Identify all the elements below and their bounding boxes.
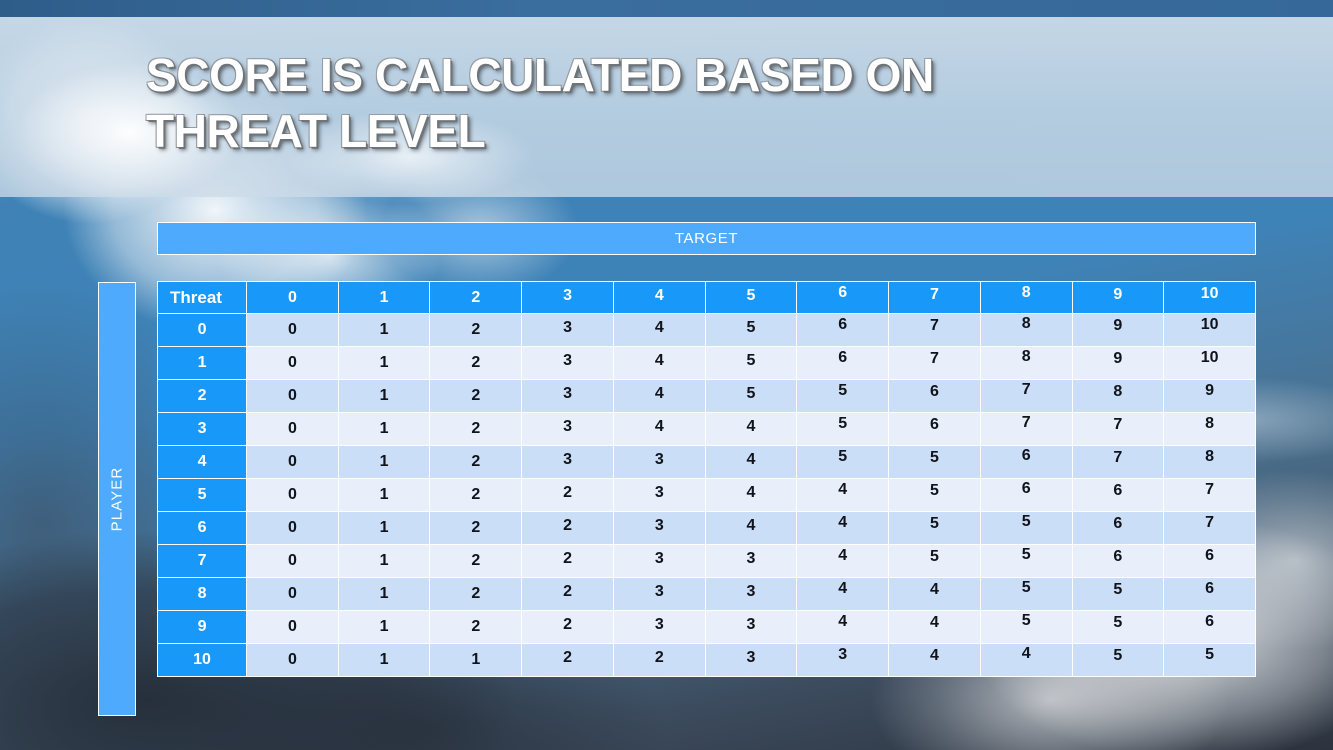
score-cell-p9-t2: 2: [430, 611, 522, 644]
score-cell-p1-t5: 5: [706, 347, 798, 380]
row-header-8: 8: [157, 578, 247, 611]
score-cell-p4-t10: 8: [1164, 446, 1256, 479]
score-cell-p6-t3: 2: [522, 512, 614, 545]
score-cell-p5-t6: 4: [797, 479, 889, 512]
score-cell-p5-t7: 5: [889, 479, 981, 512]
score-cell-p4-t4: 3: [614, 446, 706, 479]
score-cell-p0-t2: 2: [430, 314, 522, 347]
column-header-4: 4: [614, 281, 706, 314]
score-cell-p2-t1: 1: [339, 380, 431, 413]
score-cell-p5-t9: 6: [1073, 479, 1165, 512]
score-cell-p7-t7: 5: [889, 545, 981, 578]
row-header-6: 6: [157, 512, 247, 545]
score-cell-p5-t0: 0: [247, 479, 339, 512]
top-accent-band: [0, 0, 1333, 17]
score-cell-p2-t2: 2: [430, 380, 522, 413]
score-cell-p1-t3: 3: [522, 347, 614, 380]
score-cell-p1-t7: 7: [889, 347, 981, 380]
score-cell-p9-t1: 1: [339, 611, 431, 644]
score-cell-p0-t9: 9: [1073, 314, 1165, 347]
score-cell-p10-t9: 5: [1073, 644, 1165, 677]
score-cell-p7-t3: 2: [522, 545, 614, 578]
score-cell-p4-t1: 1: [339, 446, 431, 479]
score-cell-p9-t3: 2: [522, 611, 614, 644]
player-axis-label: PLAYER: [109, 467, 126, 532]
score-cell-p5-t8: 6: [981, 479, 1073, 512]
score-cell-p6-t4: 3: [614, 512, 706, 545]
score-cell-p3-t3: 3: [522, 413, 614, 446]
score-cell-p9-t0: 0: [247, 611, 339, 644]
score-cell-p1-t8: 8: [981, 347, 1073, 380]
score-cell-p10-t2: 1: [430, 644, 522, 677]
matrix-corner-header: Threat: [157, 281, 247, 314]
table-row: 701223345566: [157, 545, 1256, 578]
score-cell-p5-t5: 4: [706, 479, 798, 512]
table-row: 401233455678: [157, 446, 1256, 479]
score-cell-p7-t6: 4: [797, 545, 889, 578]
score-cell-p0-t5: 5: [706, 314, 798, 347]
score-cell-p1-t0: 0: [247, 347, 339, 380]
score-cell-p3-t2: 2: [430, 413, 522, 446]
score-cell-p8-t8: 5: [981, 578, 1073, 611]
score-cell-p4-t5: 4: [706, 446, 798, 479]
row-header-1: 1: [157, 347, 247, 380]
score-cell-p10-t8: 4: [981, 644, 1073, 677]
score-cell-p2-t10: 9: [1164, 380, 1256, 413]
table-row: 201234556789: [157, 380, 1256, 413]
score-cell-p6-t7: 5: [889, 512, 981, 545]
score-cell-p7-t8: 5: [981, 545, 1073, 578]
score-cell-p6-t9: 6: [1073, 512, 1165, 545]
score-cell-p9-t6: 4: [797, 611, 889, 644]
score-cell-p6-t0: 0: [247, 512, 339, 545]
score-cell-p5-t10: 7: [1164, 479, 1256, 512]
score-cell-p0-t7: 7: [889, 314, 981, 347]
column-header-2: 2: [430, 281, 522, 314]
score-cell-p1-t1: 1: [339, 347, 431, 380]
score-cell-p8-t5: 3: [706, 578, 798, 611]
column-header-8: 8: [981, 281, 1073, 314]
score-cell-p0-t10: 10: [1164, 314, 1256, 347]
table-row: 901223344556: [157, 611, 1256, 644]
score-cell-p7-t4: 3: [614, 545, 706, 578]
score-cell-p6-t8: 5: [981, 512, 1073, 545]
score-cell-p4-t2: 2: [430, 446, 522, 479]
score-cell-p7-t5: 3: [706, 545, 798, 578]
slide: SCORE IS CALCULATED BASED ON THREAT LEVE…: [0, 0, 1333, 750]
score-cell-p7-t2: 2: [430, 545, 522, 578]
score-cell-p4-t6: 5: [797, 446, 889, 479]
score-cell-p2-t0: 0: [247, 380, 339, 413]
score-cell-p1-t4: 4: [614, 347, 706, 380]
score-cell-p2-t6: 5: [797, 380, 889, 413]
score-cell-p4-t0: 0: [247, 446, 339, 479]
score-cell-p4-t8: 6: [981, 446, 1073, 479]
score-cell-p6-t2: 2: [430, 512, 522, 545]
score-cell-p7-t10: 6: [1164, 545, 1256, 578]
score-cell-p5-t1: 1: [339, 479, 431, 512]
row-header-9: 9: [157, 611, 247, 644]
score-cell-p9-t4: 3: [614, 611, 706, 644]
score-cell-p9-t5: 3: [706, 611, 798, 644]
score-cell-p5-t2: 2: [430, 479, 522, 512]
row-header-0: 0: [157, 314, 247, 347]
column-header-0: 0: [247, 281, 339, 314]
score-cell-p5-t4: 3: [614, 479, 706, 512]
matrix-header-row: Threat 0 1 2 3 4 5 6 7 8 9 10: [157, 281, 1256, 314]
score-cell-p2-t9: 8: [1073, 380, 1165, 413]
table-row: 1012345678910: [157, 347, 1256, 380]
score-cell-p4-t7: 5: [889, 446, 981, 479]
score-cell-p10-t7: 4: [889, 644, 981, 677]
score-cell-p3-t8: 7: [981, 413, 1073, 446]
score-cell-p2-t4: 4: [614, 380, 706, 413]
score-cell-p2-t3: 3: [522, 380, 614, 413]
row-header-7: 7: [157, 545, 247, 578]
score-cell-p9-t10: 6: [1164, 611, 1256, 644]
column-header-6: 6: [797, 281, 889, 314]
score-cell-p3-t1: 1: [339, 413, 431, 446]
score-cell-p8-t3: 2: [522, 578, 614, 611]
score-cell-p1-t2: 2: [430, 347, 522, 380]
row-header-10: 10: [157, 644, 247, 677]
score-cell-p6-t5: 4: [706, 512, 798, 545]
score-cell-p7-t1: 1: [339, 545, 431, 578]
score-cell-p3-t7: 6: [889, 413, 981, 446]
column-header-9: 9: [1073, 281, 1165, 314]
table-row: 601223445567: [157, 512, 1256, 545]
score-cell-p10-t3: 2: [522, 644, 614, 677]
score-cell-p7-t0: 0: [247, 545, 339, 578]
score-cell-p8-t1: 1: [339, 578, 431, 611]
matrix-body: 0012345678910101234567891020123455678930…: [157, 314, 1256, 677]
score-cell-p0-t0: 0: [247, 314, 339, 347]
column-header-1: 1: [339, 281, 431, 314]
row-header-4: 4: [157, 446, 247, 479]
score-cell-p3-t9: 7: [1073, 413, 1165, 446]
score-cell-p8-t2: 2: [430, 578, 522, 611]
score-cell-p10-t10: 5: [1164, 644, 1256, 677]
score-cell-p9-t7: 4: [889, 611, 981, 644]
score-cell-p3-t0: 0: [247, 413, 339, 446]
row-header-2: 2: [157, 380, 247, 413]
score-cell-p10-t5: 3: [706, 644, 798, 677]
score-cell-p4-t9: 7: [1073, 446, 1165, 479]
page-title: SCORE IS CALCULATED BASED ON THREAT LEVE…: [146, 48, 1146, 159]
score-cell-p8-t9: 5: [1073, 578, 1165, 611]
score-cell-p0-t1: 1: [339, 314, 431, 347]
column-header-7: 7: [889, 281, 981, 314]
row-header-3: 3: [157, 413, 247, 446]
score-cell-p5-t3: 2: [522, 479, 614, 512]
score-cell-p7-t9: 6: [1073, 545, 1165, 578]
score-cell-p3-t5: 4: [706, 413, 798, 446]
score-matrix-table: Threat 0 1 2 3 4 5 6 7 8 9 10 0012345678…: [157, 281, 1256, 677]
column-header-5: 5: [706, 281, 798, 314]
score-cell-p4-t3: 3: [522, 446, 614, 479]
score-cell-p10-t1: 1: [339, 644, 431, 677]
table-row: 301234456778: [157, 413, 1256, 446]
score-cell-p10-t0: 0: [247, 644, 339, 677]
score-cell-p8-t7: 4: [889, 578, 981, 611]
column-header-10: 10: [1164, 281, 1256, 314]
player-axis-banner: PLAYER: [98, 282, 136, 716]
score-cell-p6-t6: 4: [797, 512, 889, 545]
score-cell-p0-t8: 8: [981, 314, 1073, 347]
table-row: 501223445667: [157, 479, 1256, 512]
row-header-5: 5: [157, 479, 247, 512]
score-cell-p1-t10: 10: [1164, 347, 1256, 380]
score-cell-p1-t9: 9: [1073, 347, 1165, 380]
score-cell-p0-t6: 6: [797, 314, 889, 347]
score-cell-p0-t4: 4: [614, 314, 706, 347]
score-cell-p10-t6: 3: [797, 644, 889, 677]
score-cell-p1-t6: 6: [797, 347, 889, 380]
score-cell-p3-t6: 5: [797, 413, 889, 446]
score-cell-p10-t4: 2: [614, 644, 706, 677]
score-cell-p8-t6: 4: [797, 578, 889, 611]
column-header-3: 3: [522, 281, 614, 314]
score-cell-p8-t0: 0: [247, 578, 339, 611]
score-cell-p9-t8: 5: [981, 611, 1073, 644]
table-row: 801223344556: [157, 578, 1256, 611]
score-cell-p0-t3: 3: [522, 314, 614, 347]
score-cell-p6-t10: 7: [1164, 512, 1256, 545]
score-cell-p2-t7: 6: [889, 380, 981, 413]
score-cell-p3-t10: 8: [1164, 413, 1256, 446]
score-cell-p8-t4: 3: [614, 578, 706, 611]
table-row: 1001122334455: [157, 644, 1256, 677]
score-cell-p9-t9: 5: [1073, 611, 1165, 644]
target-axis-banner: TARGET: [157, 222, 1256, 255]
score-cell-p8-t10: 6: [1164, 578, 1256, 611]
score-cell-p2-t8: 7: [981, 380, 1073, 413]
score-cell-p3-t4: 4: [614, 413, 706, 446]
score-cell-p2-t5: 5: [706, 380, 798, 413]
table-row: 0012345678910: [157, 314, 1256, 347]
score-cell-p6-t1: 1: [339, 512, 431, 545]
target-axis-label: TARGET: [675, 230, 738, 247]
